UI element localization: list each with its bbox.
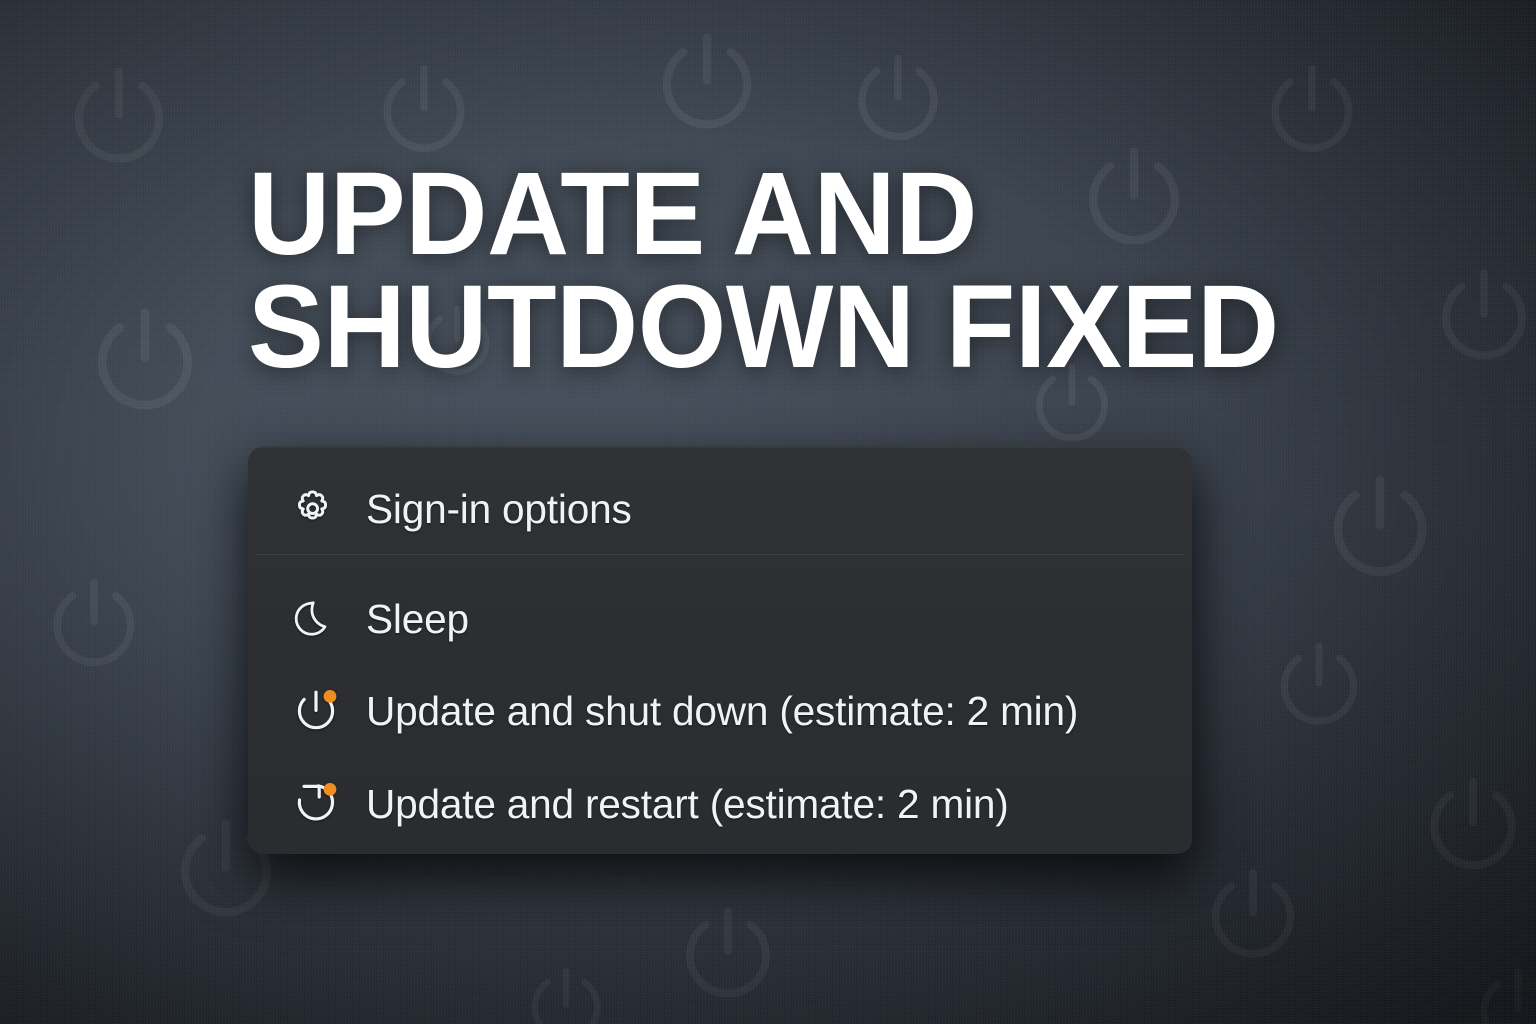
menu-item-label: Sign-in options <box>366 486 632 533</box>
power-icon <box>290 683 366 739</box>
menu-item-label: Sleep <box>366 596 469 643</box>
power-menu-panel: Sign-in options Sleep <box>248 446 1192 854</box>
menu-item-update-and-restart[interactable]: Update and restart (estimate: 2 min) <box>248 762 1192 846</box>
menu-divider <box>256 554 1184 555</box>
update-badge-dot <box>324 690 337 703</box>
restart-icon <box>290 776 366 832</box>
page-title: UPDATE AND SHUTDOWN FIXED <box>248 158 1387 385</box>
screenshot-stage: UPDATE AND SHUTDOWN FIXED Sign-in option… <box>0 0 1536 1024</box>
menu-item-sign-in-options[interactable]: Sign-in options <box>248 467 1192 551</box>
menu-item-label: Update and shut down (estimate: 2 min) <box>366 688 1078 735</box>
page-title-line-1: UPDATE AND <box>248 158 1387 271</box>
page-title-line-2: SHUTDOWN FIXED <box>248 271 1387 384</box>
update-badge-dot <box>324 783 337 796</box>
menu-item-sleep[interactable]: Sleep <box>248 577 1192 661</box>
gear-icon <box>290 481 366 537</box>
moon-icon <box>290 591 366 647</box>
menu-item-update-and-shut-down[interactable]: Update and shut down (estimate: 2 min) <box>248 669 1192 753</box>
power-menu-list: Sign-in options Sleep <box>248 447 1192 854</box>
menu-item-label: Update and restart (estimate: 2 min) <box>366 781 1009 828</box>
